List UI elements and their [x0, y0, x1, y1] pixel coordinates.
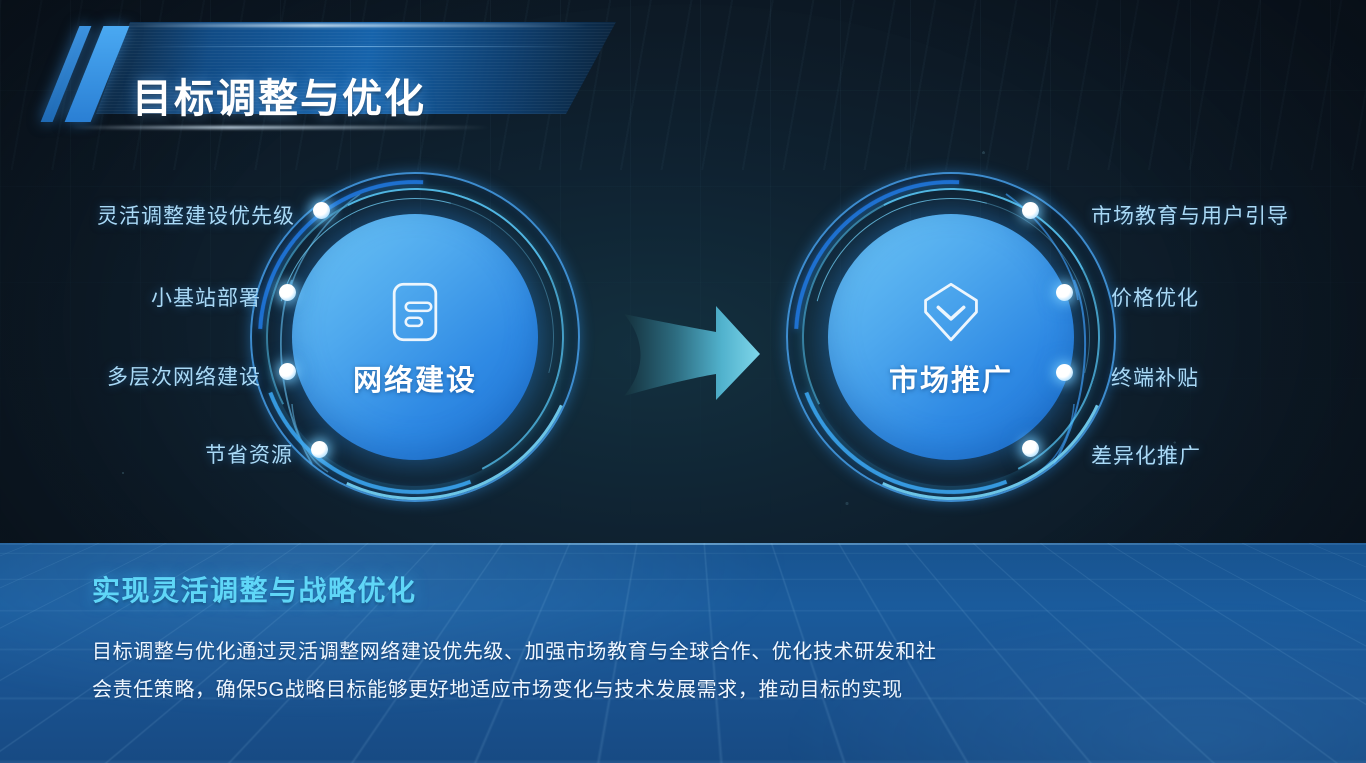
right-arrow-icon — [620, 288, 770, 418]
node-group-marketing: 市场推广 市场教育与用户引导 价格优化 终端补贴 差异化推广 — [786, 172, 1306, 502]
title-banner-top-glow — [118, 24, 588, 27]
right-label-1: 市场教育与用户引导 — [1091, 200, 1289, 230]
left-center-disc[interactable]: 网络建设 — [292, 214, 538, 460]
right-label-4: 差异化推广 — [1091, 440, 1201, 470]
left-label-1: 灵活调整建设优先级 — [97, 200, 295, 230]
left-node-dot-2[interactable] — [279, 284, 296, 301]
left-node-dot-1[interactable] — [313, 202, 330, 219]
summary-body-line-1: 目标调整与优化通过灵活调整网络建设优先级、加强市场教育与全球合作、优化技术研发和… — [92, 633, 1132, 671]
summary-panel: 实现灵活调整与战略优化 目标调整与优化通过灵活调整网络建设优先级、加强市场教育与… — [0, 543, 1366, 763]
summary-body-line-2: 会责任策略，确保5G战略目标能够更好地适应市场变化与技术发展需求，推动目标的实现 — [92, 671, 1132, 709]
title-banner-bottom-glow — [70, 126, 490, 129]
left-node-dot-4[interactable] — [311, 441, 328, 458]
page-title: 目标调整与优化 — [132, 66, 426, 124]
node-group-network: 网络建设 灵活调整建设优先级 小基站部署 多层次网络建设 节省资源 — [60, 172, 580, 502]
right-node-dot-4[interactable] — [1022, 440, 1039, 457]
title-banner-hairline — [140, 46, 580, 47]
right-node-dot-2[interactable] — [1056, 284, 1073, 301]
left-label-2: 小基站部署 — [151, 282, 261, 312]
summary-heading: 实现灵活调整与战略优化 — [92, 569, 1306, 609]
title-banner: 目标调整与优化 — [0, 22, 640, 126]
flow-arrow — [620, 288, 770, 418]
left-center-label: 网络建设 — [353, 357, 477, 399]
left-label-4: 节省资源 — [205, 439, 293, 469]
left-orbit-rings: 网络建设 — [250, 172, 580, 502]
right-node-dot-1[interactable] — [1022, 202, 1039, 219]
right-orbit-rings: 市场推广 — [786, 172, 1116, 502]
diamond-chevron-down-icon — [914, 275, 988, 349]
right-center-disc[interactable]: 市场推广 — [828, 214, 1074, 460]
right-node-dot-3[interactable] — [1056, 364, 1073, 381]
right-center-label: 市场推广 — [889, 357, 1013, 399]
slide-canvas: 目标调整与优化 网络建设 — [0, 0, 1366, 763]
left-node-dot-3[interactable] — [279, 363, 296, 380]
document-list-icon — [378, 275, 452, 349]
right-label-3: 终端补贴 — [1111, 362, 1199, 392]
left-label-3: 多层次网络建设 — [107, 361, 261, 391]
right-label-2: 价格优化 — [1111, 282, 1199, 312]
summary-panel-top-edge — [0, 543, 1366, 545]
